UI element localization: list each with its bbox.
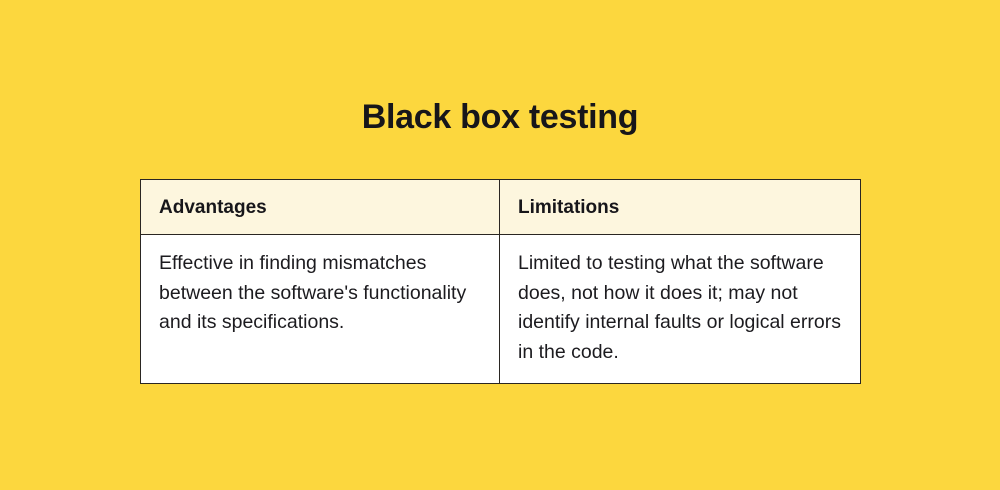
table-row: Effective in finding mismatches between … [141,235,861,384]
column-header-limitations: Limitations [500,180,861,235]
cell-advantages-text: Effective in finding mismatches between … [141,235,500,384]
column-header-advantages: Advantages [141,180,500,235]
cell-limitations-text: Limited to testing what the software doe… [500,235,861,384]
table-body: Effective in finding mismatches between … [141,235,861,384]
comparison-table: Advantages Limitations Effective in find… [140,179,861,384]
table-header-row: Advantages Limitations [141,180,861,235]
page-title: Black box testing [0,96,1000,138]
table-header: Advantages Limitations [141,180,861,235]
slide-canvas: Black box testing Advantages Limitations… [0,0,1000,490]
comparison-table-wrapper: Advantages Limitations Effective in find… [140,179,860,384]
